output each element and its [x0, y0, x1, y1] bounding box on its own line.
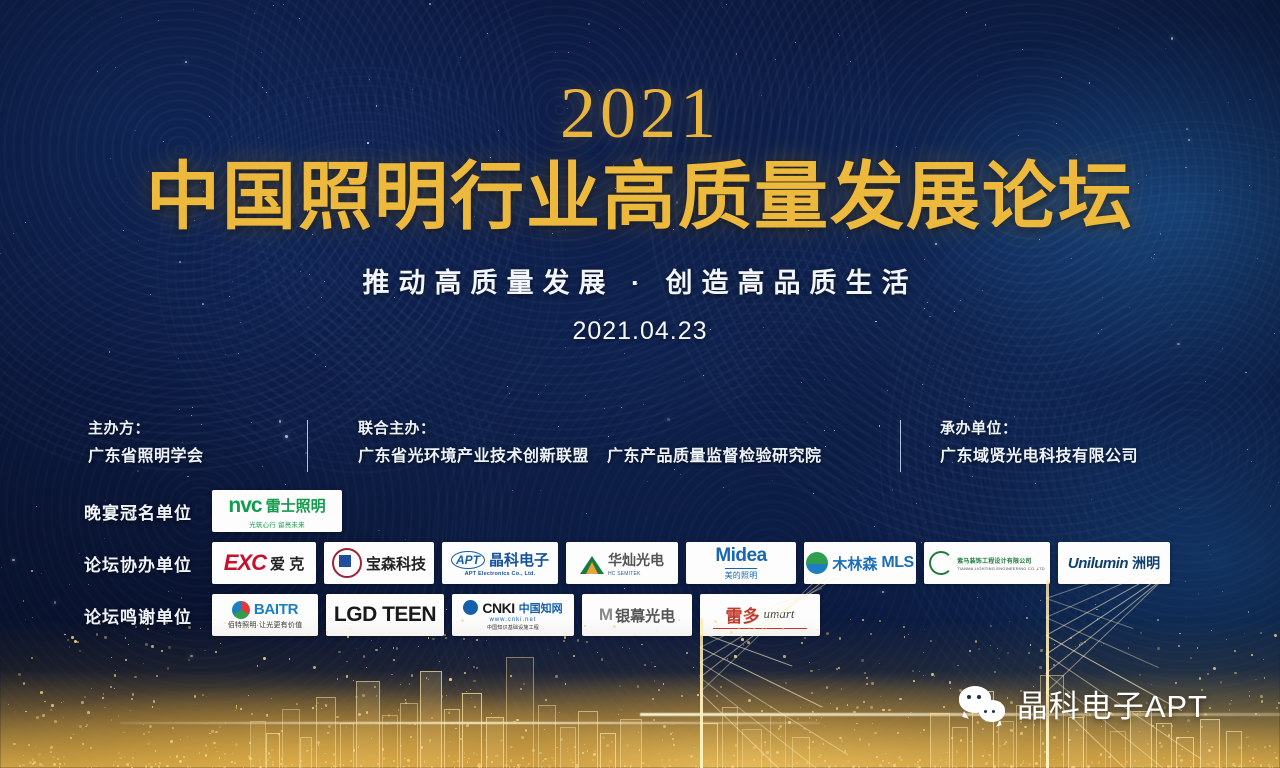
title-block: 2021 中国照明行业高质量发展论坛 推动高质量发展 · 创造高品质生活 202…: [0, 74, 1280, 346]
wechat-account-badge[interactable]: 晶科电子APT: [959, 681, 1208, 726]
sponsor-row-label: 论坛鸣谢单位: [84, 603, 212, 628]
organizer-undertaker: 承办单位： 广东域贤光电科技有限公司: [940, 418, 1138, 469]
bridge-deck-light: [120, 722, 820, 724]
city-building: [444, 709, 460, 768]
sponsor-row-label: 论坛协办单位: [84, 551, 212, 576]
apt-mark-icon: APT: [451, 551, 485, 569]
city-building: [930, 713, 950, 768]
cnki-brand-text: CNKI: [482, 600, 514, 616]
city-building: [340, 723, 354, 768]
tianma-logo[interactable]: 紫马装饰工程设计有限公司 TIANMA LIGHTING ENGINEERING…: [924, 542, 1050, 584]
event-date: 2021.04.23: [0, 316, 1280, 346]
city-building: [1156, 723, 1172, 768]
city-building: [462, 693, 482, 768]
cnki-cn-text: 中国知网: [519, 600, 563, 616]
apt-cn-text: 晶科电子: [489, 549, 549, 570]
hc-semitek-cn-text: 华灿光电: [608, 550, 664, 570]
organizer-host-name: 广东省照明学会: [88, 445, 204, 469]
city-building: [1200, 719, 1220, 768]
bridge-cable: [700, 692, 881, 768]
city-building: [300, 737, 312, 768]
wechat-icon: [959, 686, 1005, 722]
city-building: [1110, 731, 1126, 768]
city-building: [316, 697, 336, 768]
city-building: [998, 721, 1014, 768]
organizer-cohost-label: 联合主办：: [358, 418, 822, 439]
organizer-undertaker-label: 承办单位：: [940, 418, 1138, 439]
mls-mark-icon: [806, 552, 828, 574]
leiduo-brand-text: umart: [763, 606, 794, 622]
unilumin-logo[interactable]: Unilumin 洲明: [1058, 542, 1170, 584]
apt-tagline: APT Electronics Co., Ltd.: [465, 571, 536, 577]
nvc-logo[interactable]: nvc 雷士照明 光筑心行 留亮未来: [212, 490, 342, 532]
city-building: [1226, 731, 1242, 768]
baitr-tagline: 佰特照明·让光更有价值: [228, 620, 303, 630]
organizer-cohost: 联合主办： 广东省光环境产业技术创新联盟广东产品质量监督检验研究院: [358, 418, 822, 469]
event-year: 2021: [0, 74, 1280, 152]
city-building: [486, 717, 504, 768]
organizer-cohost-name-1: 广东省光环境产业技术创新联盟: [358, 445, 589, 469]
sponsor-row-label: 晚宴冠名单位: [84, 499, 212, 524]
mls-logo[interactable]: 木林森 MLS: [804, 542, 916, 584]
sponsor-row: 晚宴冠名单位 nvc 雷士照明 光筑心行 留亮未来: [0, 488, 1280, 534]
tianma-cn-text: 紫马装饰工程设计有限公司: [957, 556, 1031, 565]
cnki-tagline: 中国知识基础设施工程: [487, 624, 539, 631]
baosen-logo[interactable]: 宝森科技: [324, 542, 434, 584]
wechat-account-name: 晶科电子APT: [1017, 681, 1208, 726]
baitr-logo[interactable]: BAITR 佰特照明·让光更有价值: [212, 594, 318, 636]
baitr-brand-text: BAITR: [254, 601, 298, 618]
city-building: [420, 671, 442, 768]
city-building: [722, 707, 738, 768]
yinmu-logo[interactable]: M 银幕光电: [582, 594, 692, 636]
organizer-undertaker-value: 广东域贤光电科技有限公司: [940, 445, 1138, 469]
mls-brand-text: MLS: [881, 554, 913, 572]
bridge-cable: [700, 677, 868, 768]
nvc-tagline: 光筑心行 留亮未来: [249, 519, 305, 529]
city-building: [560, 727, 576, 768]
nvc-cn-text: 雷士照明: [266, 495, 326, 516]
lgdteen-brand-text: LGD TEEN: [334, 603, 436, 627]
nvc-brand-text: nvc: [228, 494, 261, 518]
city-building: [1176, 737, 1194, 768]
city-building: [742, 729, 762, 768]
city-building: [578, 711, 598, 768]
event-poster: 2021 中国照明行业高质量发展论坛 推动高质量发展 · 创造高品质生活 202…: [0, 0, 1280, 768]
exc-logo[interactable]: EXC 爱 克: [212, 542, 316, 584]
organizer-divider: [900, 420, 901, 472]
city-building: [400, 703, 418, 768]
baosen-cn-text: 宝森科技: [366, 553, 426, 574]
city-building: [952, 727, 968, 768]
cnki-globe-icon: [463, 600, 478, 615]
city-building: [506, 657, 534, 768]
bridge-cable: [700, 662, 848, 755]
mls-cn-text: 木林森: [832, 553, 877, 574]
city-building: [266, 733, 280, 768]
city-building: [600, 733, 616, 768]
city-building: [250, 721, 266, 768]
yinmu-brand-text: M: [599, 605, 611, 625]
exc-cn-text: 爱 克: [270, 553, 304, 574]
unilumin-cn-text: 洲明: [1132, 553, 1160, 573]
tianma-mark-icon: [929, 551, 953, 575]
sponsors-section: 晚宴冠名单位 nvc 雷士照明 光筑心行 留亮未来 论坛协办单位 EXC 爱 克: [0, 488, 1280, 644]
city-building: [792, 737, 810, 768]
hc-semitek-mark-icon: [580, 552, 604, 574]
cnki-logo[interactable]: CNKI 中国知网 www.cnki.net 中国知识基础设施工程: [452, 594, 574, 636]
yinmu-cn-text: 银幕光电: [615, 605, 675, 626]
organizers-section: 主办方： 广东省照明学会 联合主办： 广东省光环境产业技术创新联盟广东产品质量监…: [0, 418, 1280, 476]
hc-semitek-logo[interactable]: 华灿光电 HC SEMITEK: [566, 542, 678, 584]
sponsor-row: 论坛鸣谢单位 BAITR 佰特照明·让光更有价值 LGD TEEN: [0, 592, 1280, 638]
cnki-url: www.cnki.net: [489, 617, 536, 623]
organizer-host-value: 广东省照明学会: [88, 445, 204, 469]
baitr-mark-icon: [232, 601, 250, 619]
organizer-divider: [307, 420, 308, 472]
bridge-cable: [700, 647, 823, 708]
organizer-host: 主办方： 广东省照明学会: [88, 418, 204, 469]
midea-logo[interactable]: Midea 美的照明: [686, 542, 796, 584]
city-building: [620, 719, 642, 768]
unilumin-brand-text: Unilumin: [1068, 555, 1128, 572]
leiduo-cn-text: 雷多: [725, 602, 759, 627]
tianma-tagline: TIANMA LIGHTING ENGINEERING CO.,LTD: [957, 566, 1045, 571]
leiduo-logo[interactable]: 雷多 umart: [700, 594, 820, 636]
organizer-undertaker-name: 广东域贤光电科技有限公司: [940, 445, 1138, 469]
city-building: [356, 681, 380, 768]
city-building: [282, 709, 300, 768]
city-building: [382, 715, 398, 768]
organizer-cohost-name-2: 广东产品质量监督检验研究院: [607, 445, 822, 469]
leiduo-underline: [713, 628, 807, 629]
sponsor-row: 论坛协办单位 EXC 爱 克 宝森科技 APT: [0, 540, 1280, 586]
city-building: [770, 715, 786, 768]
lgdteen-logo[interactable]: LGD TEEN: [326, 594, 444, 636]
organizer-host-label: 主办方：: [88, 418, 204, 439]
organizer-cohost-value: 广东省光环境产业技术创新联盟广东产品质量监督检验研究院: [358, 445, 822, 469]
exc-brand-text: EXC: [224, 550, 266, 576]
apt-logo[interactable]: APT 晶科电子 APT Electronics Co., Ltd.: [442, 542, 558, 584]
midea-tagline: 美的照明: [725, 568, 758, 581]
hc-semitek-tagline: HC SEMITEK: [608, 571, 641, 577]
midea-brand-text: Midea: [715, 545, 766, 567]
event-subtitle: 推动高质量发展 · 创造高品质生活: [0, 266, 1280, 300]
baosen-mark-icon: [332, 548, 362, 578]
event-title: 中国照明行业高质量发展论坛: [0, 154, 1280, 240]
city-building: [538, 705, 556, 768]
city-building: [700, 723, 718, 768]
